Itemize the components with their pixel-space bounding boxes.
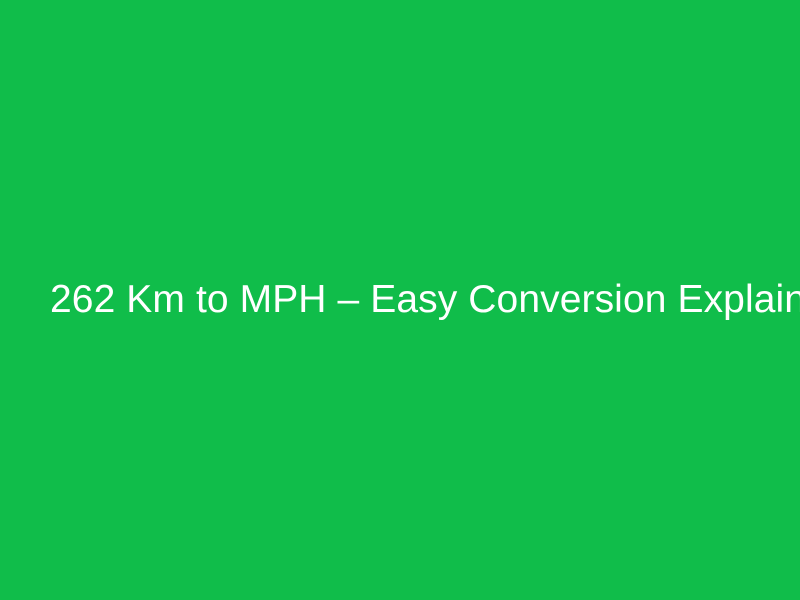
- green-title-card: 262 Km to MPH – Easy Conversion Explaine…: [0, 0, 800, 600]
- page-title: 262 Km to MPH – Easy Conversion Explaine…: [50, 277, 750, 323]
